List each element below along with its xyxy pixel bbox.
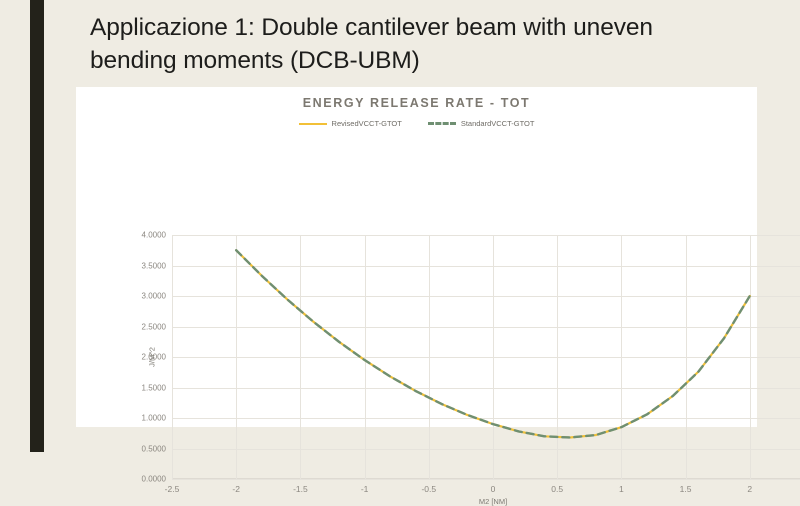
- legend-swatch-dashed-line-icon: [428, 122, 456, 125]
- x-tick-label: -2.5: [165, 484, 180, 494]
- slide-accent-bar: [30, 0, 44, 452]
- chart-legend: RevisedVCCT-GTOTStandardVCCT-GTOT: [76, 119, 757, 128]
- x-tick-label: -1.5: [293, 484, 308, 494]
- y-tick-label: 1.5000: [142, 383, 166, 392]
- y-tick-label: 1.0000: [142, 414, 166, 423]
- y-tick-label: 3.5000: [142, 261, 166, 270]
- y-tick-label: 0.0000: [142, 475, 166, 484]
- y-tick-label: 2.5000: [142, 322, 166, 331]
- y-gridline: [172, 479, 800, 480]
- series-line-solid: [236, 250, 750, 437]
- x-tick-label: 2: [747, 484, 752, 494]
- x-tick-label: 1.5: [680, 484, 692, 494]
- legend-swatch-solid-line-icon: [299, 123, 327, 125]
- chart-title: ENERGY RELEASE RATE - TOT: [76, 96, 757, 110]
- x-tick-label: 0.5: [551, 484, 563, 494]
- x-tick-label: -1: [361, 484, 369, 494]
- series-line-dashed: [236, 250, 750, 437]
- chart-series-canvas: [172, 235, 800, 479]
- legend-label: RevisedVCCT-GTOT: [332, 119, 402, 128]
- legend-entry[interactable]: RevisedVCCT-GTOT: [299, 119, 402, 128]
- slide-canvas: Applicazione 1: Double cantilever beam w…: [0, 0, 800, 452]
- slide-left-margin-band: [0, 0, 30, 452]
- legend-label: StandardVCCT-GTOT: [461, 119, 535, 128]
- y-axis-title: J/M^2: [147, 347, 156, 367]
- x-axis-title: M2 [NM]: [172, 497, 800, 506]
- page-title: Applicazione 1: Double cantilever beam w…: [90, 12, 710, 77]
- x-tick-label: -0.5: [421, 484, 436, 494]
- y-tick-label: 4.0000: [142, 231, 166, 240]
- legend-entry[interactable]: StandardVCCT-GTOT: [428, 119, 535, 128]
- x-tick-label: -2: [232, 484, 240, 494]
- plot-area: 0.00000.50001.00001.50002.00002.50003.00…: [172, 235, 800, 479]
- x-tick-label: 1: [619, 484, 624, 494]
- y-tick-label: 3.0000: [142, 292, 166, 301]
- x-tick-label: 0: [491, 484, 496, 494]
- chart-panel: ENERGY RELEASE RATE - TOT RevisedVCCT-GT…: [76, 87, 757, 427]
